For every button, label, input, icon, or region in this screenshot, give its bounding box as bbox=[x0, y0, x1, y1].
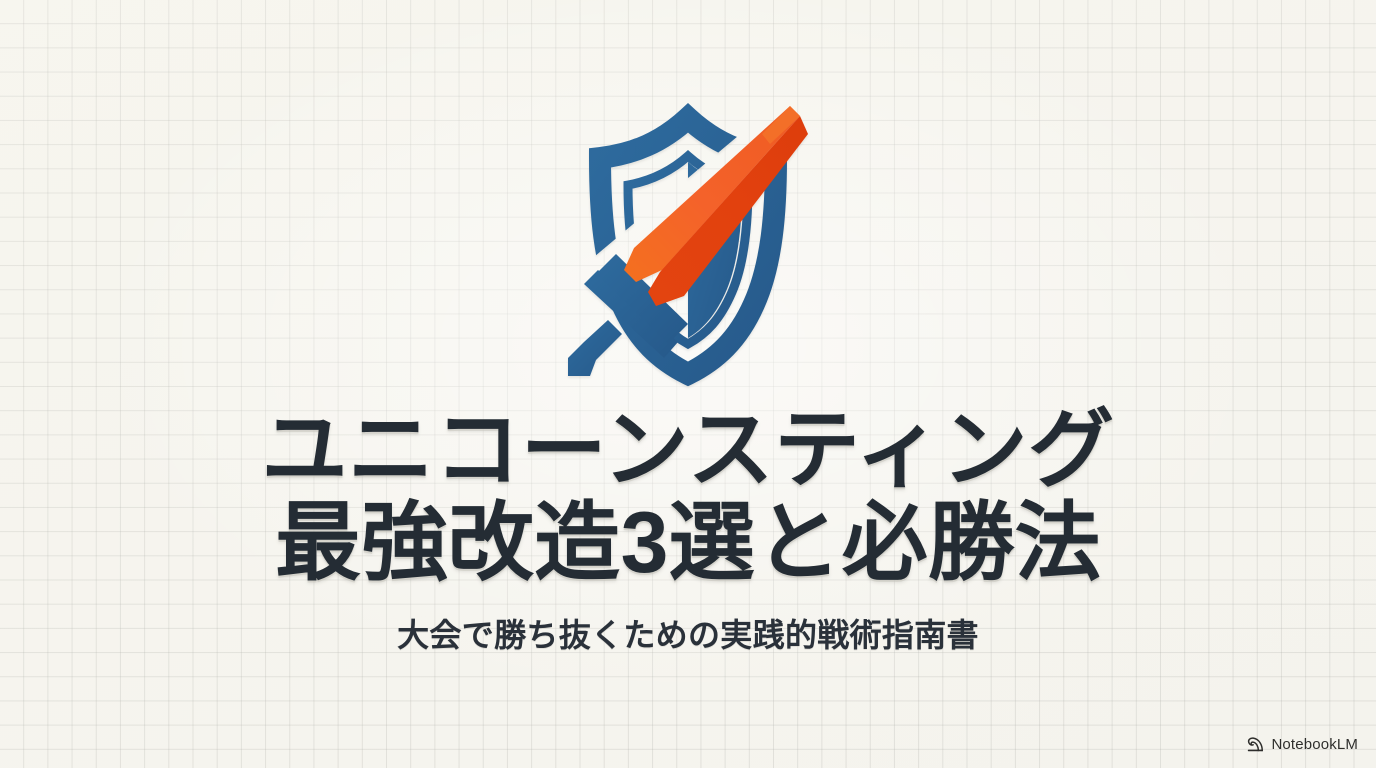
notebooklm-watermark: NotebookLM bbox=[1246, 735, 1358, 754]
page-title-line-2: 最強改造3選と必勝法 bbox=[0, 497, 1376, 590]
page-title-line-1: ユニコーンスティング bbox=[0, 404, 1376, 497]
page-subtitle: 大会で勝ち抜くための実践的戦術指南書 bbox=[0, 616, 1376, 654]
logo bbox=[538, 92, 838, 392]
title-slide: ユニコーンスティング 最強改造3選と必勝法 大会で勝ち抜くための実践的戦術指南書… bbox=[0, 0, 1376, 768]
notebooklm-spiral-icon bbox=[1246, 735, 1265, 754]
notebooklm-label: NotebookLM bbox=[1271, 737, 1358, 752]
slide-content: ユニコーンスティング 最強改造3選と必勝法 大会で勝ち抜くための実践的戦術指南書 bbox=[0, 0, 1376, 768]
title-block: ユニコーンスティング 最強改造3選と必勝法 大会で勝ち抜くための実践的戦術指南書 bbox=[0, 404, 1376, 654]
